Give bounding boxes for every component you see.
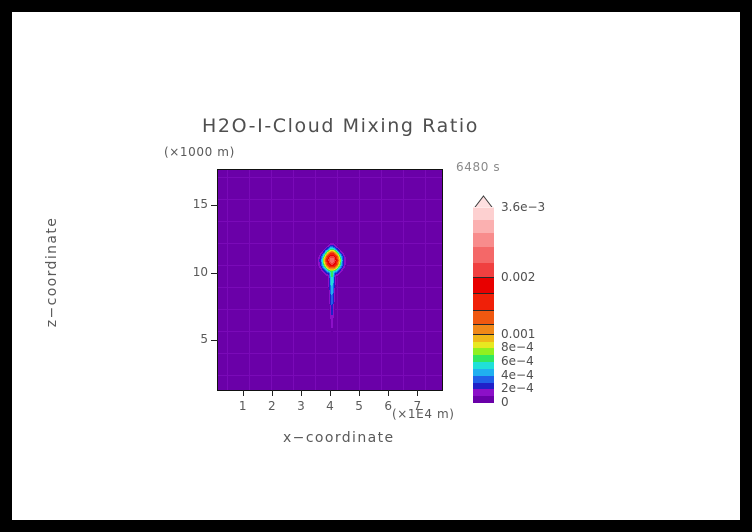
colorbar-band (473, 348, 494, 355)
colorbar-tick-label: 0.001 (501, 327, 535, 341)
colorbar-tick-label: 0 (501, 395, 509, 409)
timestamp-label: 6480 s (456, 160, 500, 174)
x-tick (417, 390, 418, 396)
x-tick-label: 4 (326, 399, 334, 413)
x-tick (388, 390, 389, 396)
y-axis-label: z−coordinate (44, 192, 60, 352)
colorbar-tick-label: 3.6e−3 (501, 200, 545, 214)
x-tick (272, 390, 273, 396)
colorbar-tick-label: 6e−4 (501, 354, 534, 368)
colorbar-band (473, 335, 494, 342)
y-tick-label: 5 (200, 332, 208, 346)
y-axis-unit-label: (×1000 m) (164, 145, 235, 159)
x-tick-label: 2 (268, 399, 276, 413)
colorbar-separator (473, 310, 494, 311)
x-tick (301, 390, 302, 396)
x-tick (330, 390, 331, 396)
colorbar-band (473, 389, 494, 396)
x-tick (359, 390, 360, 396)
colorbar-band (473, 362, 494, 369)
colorbar-separator (473, 324, 494, 325)
y-tick-label: 10 (193, 265, 208, 279)
colorbar-band (473, 311, 494, 325)
colorbar-separator (473, 293, 494, 294)
x-tick-label: 5 (355, 399, 363, 413)
colorbar-tick-label: 2e−4 (501, 381, 534, 395)
x-tick-label: 1 (239, 399, 247, 413)
colorbar-band (473, 247, 494, 263)
y-tick (211, 273, 218, 274)
colorbar-band (473, 263, 494, 279)
x-axis-label: x−coordinate (283, 430, 395, 446)
x-tick (243, 390, 244, 396)
colorbar-band (473, 376, 494, 383)
colorbar-tick-label: 0.002 (501, 270, 535, 284)
heatmap-field (218, 170, 442, 390)
x-tick-label: 3 (297, 399, 305, 413)
y-tick (211, 340, 218, 341)
colorbar-tick-label: 8e−4 (501, 340, 534, 354)
colorbar-band (473, 294, 494, 312)
colorbar-band (473, 220, 494, 234)
page-title: H2O-I-Cloud Mixing Ratio (202, 115, 479, 137)
colorbar-separator (473, 334, 494, 335)
colorbar-tick-label: 4e−4 (501, 368, 534, 382)
x-axis-unit-label: (×1E4 m) (392, 407, 455, 421)
colorbar-band (473, 383, 494, 390)
colorbar-band (473, 208, 494, 220)
figure-canvas: H2O-I-Cloud Mixing Ratio (×1000 m) 6480 … (12, 12, 740, 520)
y-tick-label: 15 (193, 197, 208, 211)
x-tick-label: 6 (384, 399, 392, 413)
colorbar-band (473, 342, 494, 349)
colorbar-band (473, 278, 494, 294)
colorbar-band (473, 355, 494, 362)
colorbar-band (473, 396, 494, 403)
colorbar-band (473, 233, 494, 247)
colorbar (473, 208, 494, 403)
y-tick (211, 205, 218, 206)
colorbar-band (473, 369, 494, 376)
plot-area: 51015 1234567 (218, 170, 442, 390)
colorbar-band (473, 207, 494, 208)
colorbar-separator (473, 277, 494, 278)
